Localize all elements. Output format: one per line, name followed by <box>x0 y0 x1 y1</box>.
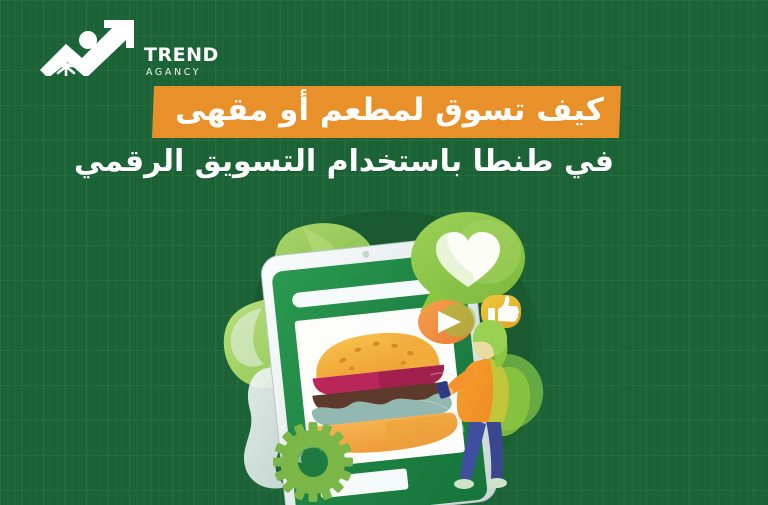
headline-band-wrap: كيف تسوق لمطعم أو مقهى <box>153 86 620 138</box>
brand-logo[interactable]: TREND AGANCY <box>38 18 228 80</box>
headline-line-2: في طنطا باستخدام التسويق الرقمي <box>74 146 614 178</box>
poster-canvas: TREND AGANCY كيف تسوق لمطعم أو مقهى في ط… <box>0 0 768 505</box>
logo-wordmark: TREND AGANCY <box>144 46 219 78</box>
logo-title: TREND <box>144 46 219 65</box>
logo-subtitle: AGANCY <box>144 68 219 78</box>
headline-line-1: كيف تسوق لمطعم أو مقهى <box>175 95 604 127</box>
upward-arrow-chart-icon <box>38 18 142 76</box>
gear-icon <box>273 422 353 502</box>
headline-band: كيف تسوق لمطعم أو مقهى <box>152 86 621 138</box>
headline-block: كيف تسوق لمطعم أو مقهى في طنطا باستخدام … <box>74 86 620 177</box>
